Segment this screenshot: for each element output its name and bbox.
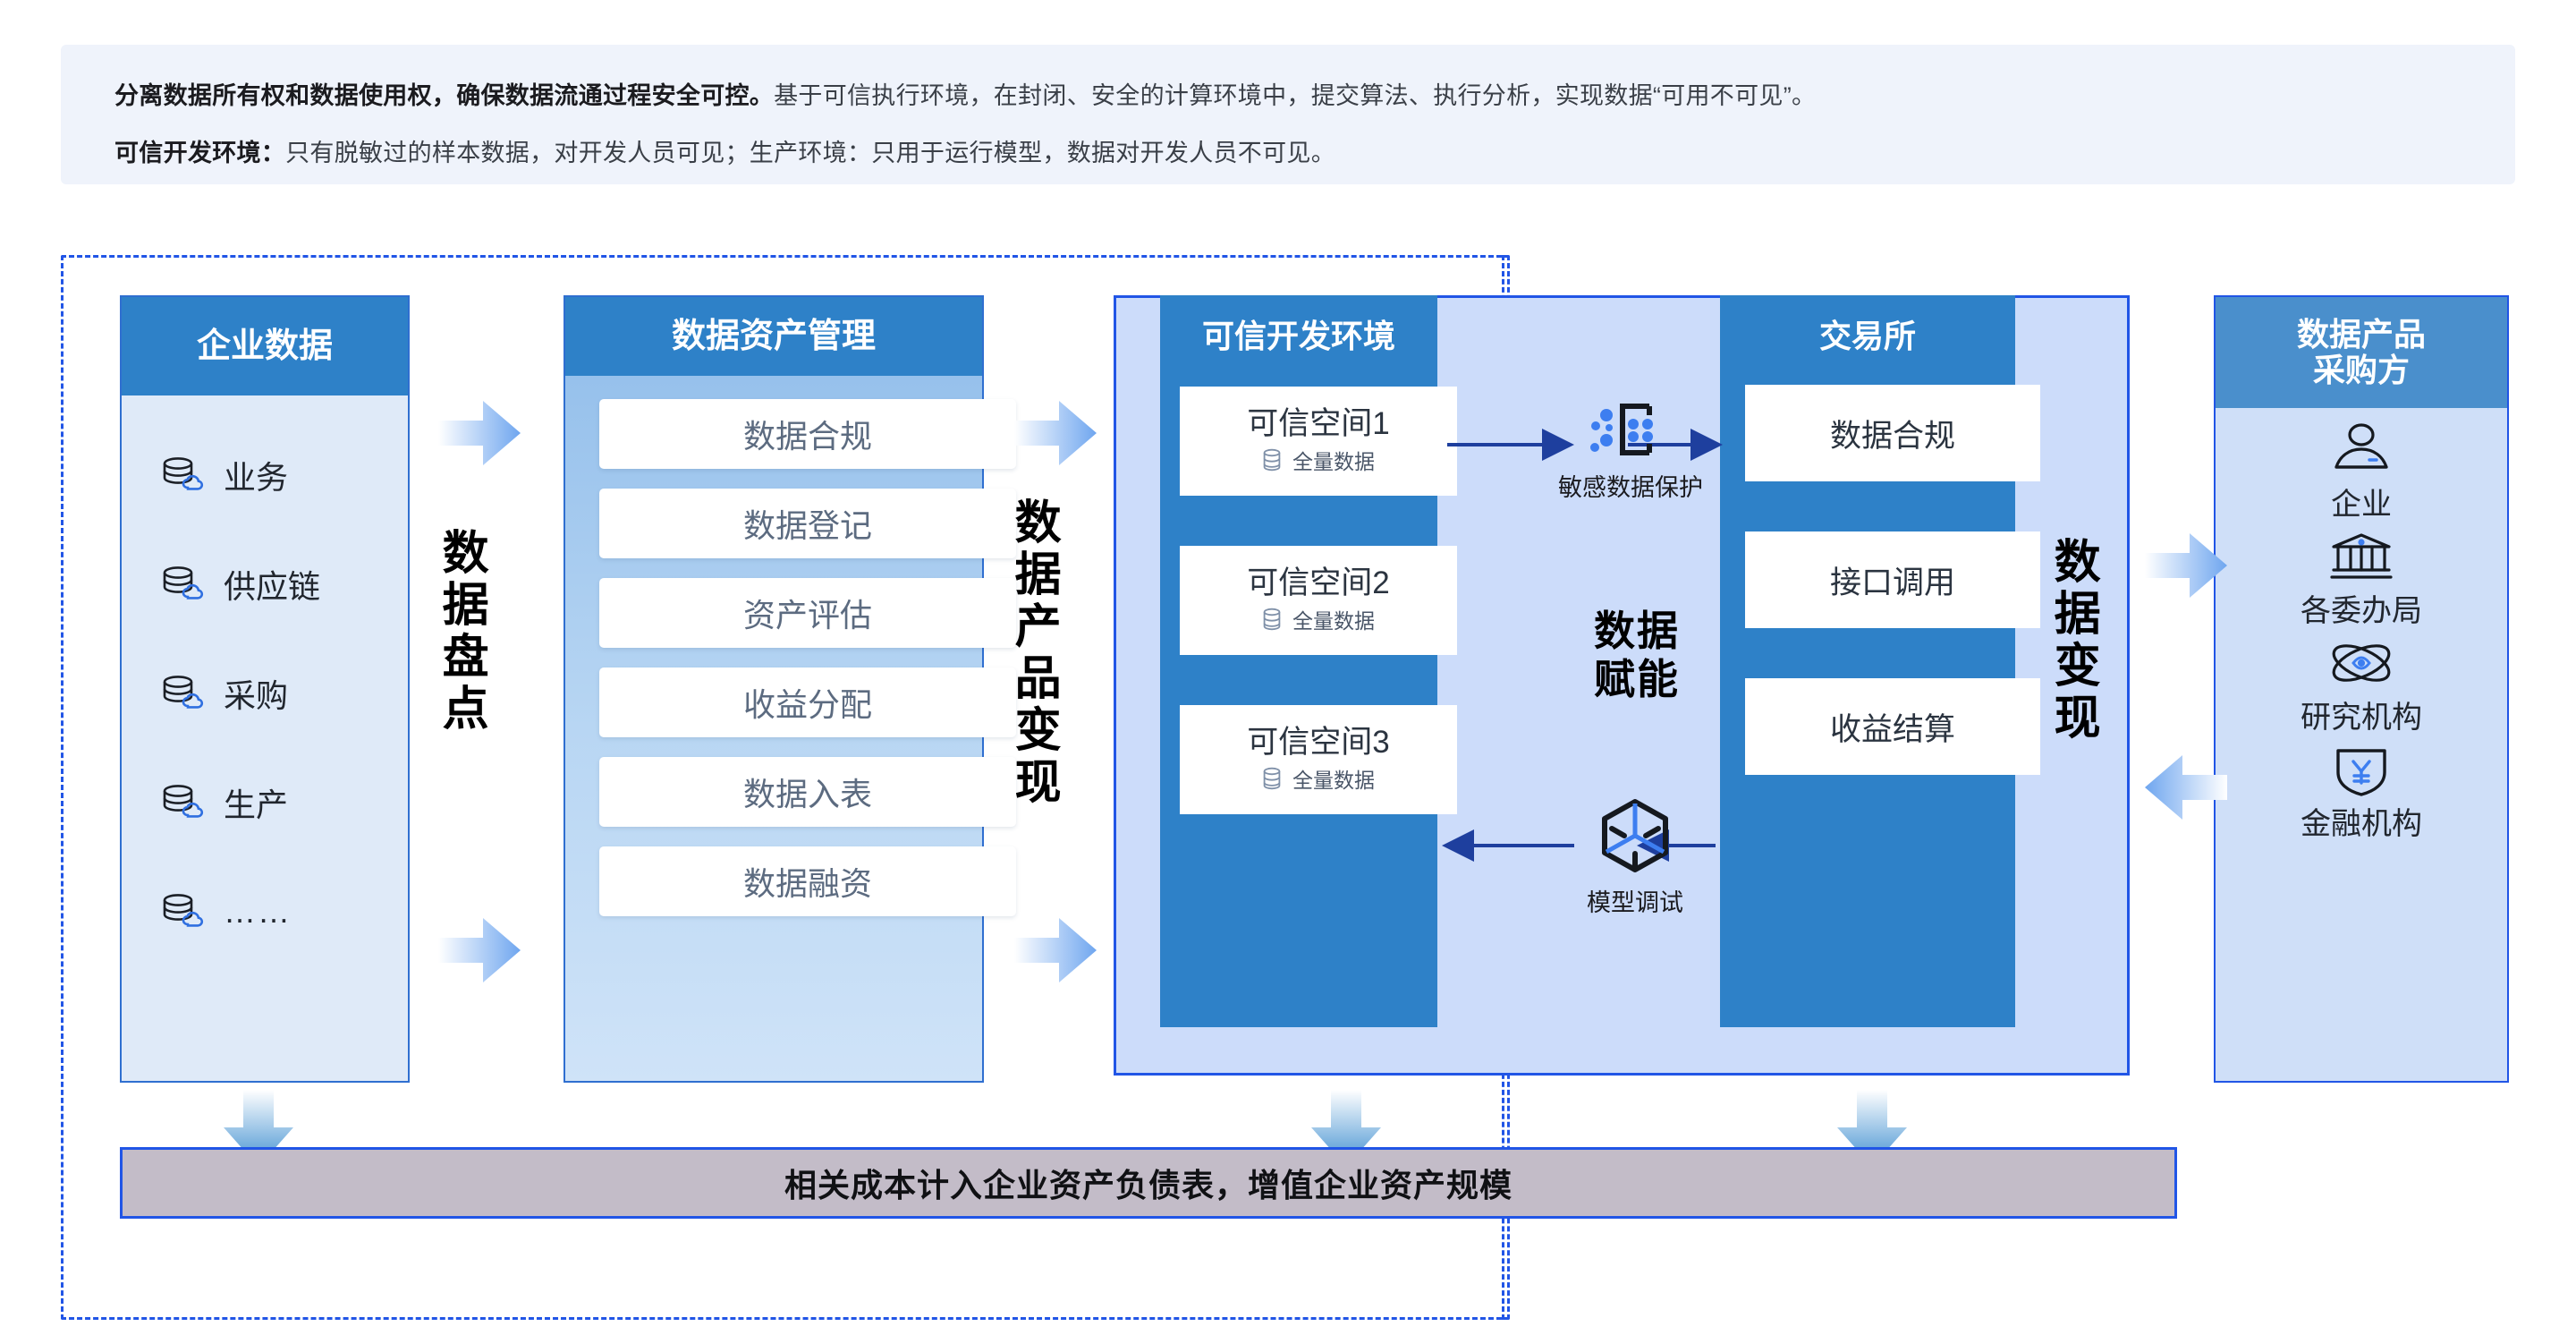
data-enablement-label: 数据 赋能 [1521, 607, 1753, 704]
vertical-label-data-monetization: 数据变现 [2048, 537, 2097, 744]
vertical-label-product-monetization: 数据产品变现 [1009, 497, 1057, 809]
data-enablement-line1: 数据 [1521, 607, 1753, 655]
model-debug-label: 模型调试 [1563, 883, 1707, 918]
data-gate-icon [1587, 401, 1673, 462]
cube-icon [1594, 795, 1676, 877]
arrow-monetization-left [2145, 755, 2227, 820]
arrow-inventory-top [438, 401, 521, 465]
arrow-inventory-bottom [438, 918, 521, 982]
sensitive-protect-label: 敏感数据保护 [1558, 468, 1701, 503]
sensitive-protect-flow: 敏感数据保护 [1558, 401, 1701, 503]
diagram-canvas: 分离数据所有权和数据使用权，确保数据流通过程安全可控。基于可信执行环境，在封闭、… [0, 0, 2576, 1335]
arrow-productization-bottom [1014, 918, 1097, 982]
arrow-productization-top [1014, 401, 1097, 465]
bottom-summary-bar: 相关成本计入企业资产负债表，增值企业资产规模 [120, 1147, 2177, 1219]
bottom-summary-text: 相关成本计入企业资产负债表，增值企业资产规模 [784, 1160, 1513, 1206]
vertical-label-data-inventory: 数据盘点 [436, 528, 485, 736]
flow-arrow-layer [0, 0, 2576, 1335]
model-debug-flow: 模型调试 [1563, 795, 1707, 918]
data-enablement-line2: 赋能 [1521, 655, 1753, 703]
arrow-monetization-right [2145, 533, 2227, 598]
